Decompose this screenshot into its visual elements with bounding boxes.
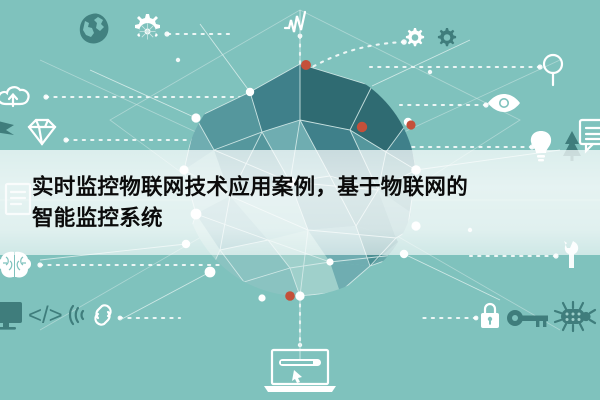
lock-icon [481, 304, 499, 328]
page-title-line-1: 实时监控物联网技术应用案例，基于物联网的 [32, 172, 577, 203]
link-icon [95, 305, 110, 324]
key-icon [507, 310, 548, 327]
pulse-icon [285, 12, 305, 32]
cloud-upload-icon [0, 87, 29, 106]
diamond-icon [29, 120, 55, 144]
gear-small-icon [406, 28, 424, 46]
gear-icon [135, 14, 160, 40]
bug-icon [555, 302, 595, 331]
flag-icon [0, 120, 14, 135]
laptop-icon [264, 350, 336, 392]
chat-icon [580, 120, 600, 151]
signal-icon [70, 306, 83, 324]
code-icon: </> [28, 302, 63, 329]
monitor-icon [0, 302, 22, 330]
gear-dark-icon [438, 28, 456, 46]
page-title-line-2: 智能监控系统 [32, 203, 577, 234]
eye-icon [488, 94, 520, 112]
banner-image: .dot { stroke:#ffffff; stroke-width:2.1;… [0, 0, 600, 400]
globe-icon [80, 14, 109, 44]
page-title: 实时监控物联网技术应用案例，基于物联网的 智能监控系统 [32, 150, 577, 255]
search-icon [544, 55, 562, 85]
code-icon-glyph: </> [28, 302, 63, 329]
brain-icon [0, 252, 31, 278]
